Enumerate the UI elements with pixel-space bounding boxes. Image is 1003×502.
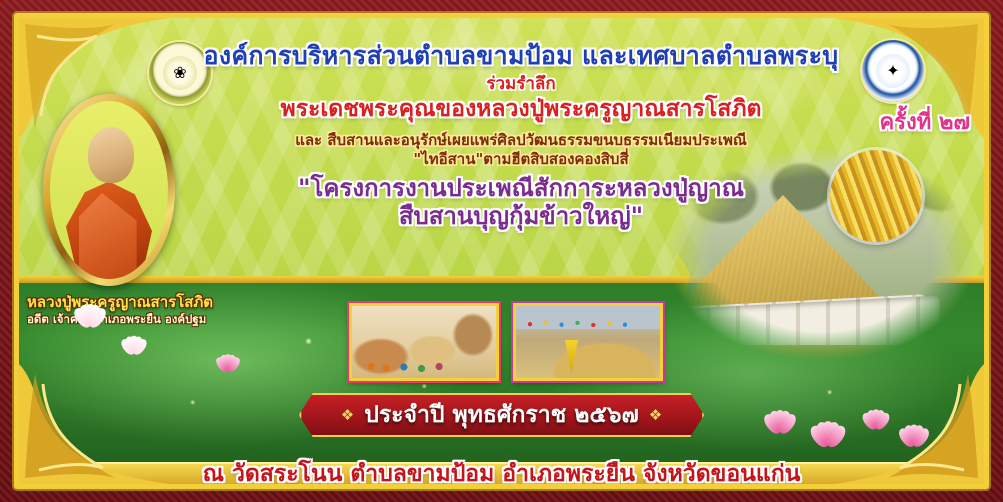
festival-scene — [516, 306, 660, 378]
ribbon-ornament-left-icon: ❖ — [341, 406, 354, 424]
purpose-line-2: "ไทอีสาน"ตามฮีตสิบสองคองสิบสี่ — [191, 151, 851, 168]
mural-photo-inner — [352, 306, 496, 378]
portrait-caption-role: อดีต เจ้าคณะอำเภอพระยืน องค์ปฐม — [27, 313, 195, 326]
mural-scene — [352, 306, 496, 378]
ribbon-ornament-right-icon: ❖ — [649, 406, 662, 424]
venue-line: ณ วัดสระโนน ตำบลขามป้อม อำเภอพระยืน จังห… — [19, 456, 984, 489]
headline-block: องค์การบริหารส่วนตำบลขามป้อม และเทศบาลตำ… — [191, 42, 851, 230]
sao-seal-glyph: ❀ — [173, 65, 186, 81]
edition-badge: ครั้งที่ ๒๗ — [880, 104, 970, 139]
year-ribbon: ❖ ประจำปี พุทธศักราช ๒๕๖๗ ❖ — [299, 393, 704, 437]
honoree-line: พระเดชพระคุณของหลวงปู่พระครูญาณสารโสภิต — [191, 97, 851, 123]
organizer-line: องค์การบริหารส่วนตำบลขามป้อม และเทศบาลตำ… — [191, 42, 851, 70]
rice-scene-ground — [650, 345, 980, 371]
municipality-seal-glyph: ✦ — [886, 63, 899, 79]
banner-inner-frame: หลวงปู่พระครูญาณสารโสภิต อดีต เจ้าคณะอำเ… — [14, 13, 989, 489]
lotus-flower-pink-right-2 — [807, 417, 849, 446]
commemoration-label: ร่วมรำลึก — [191, 75, 851, 94]
festival-photo-inner — [516, 306, 660, 378]
lotus-flower-pink-right-1 — [761, 406, 799, 432]
lotus-flower-white-left — [71, 300, 109, 326]
mural-photo — [349, 303, 499, 381]
portrait-gold-oval-frame — [43, 94, 175, 286]
purpose-line-1: และ สืบสานและอนุรักษ์เผยแพร่ศิลปวัฒนธรรม… — [191, 132, 851, 149]
phrabu-municipality-seal-icon: ✦ — [862, 40, 924, 102]
lotus-flower-pink-right-4 — [896, 421, 932, 446]
portrait-caption-name: หลวงปู่พระครูญาณสารโสภิต — [27, 294, 195, 311]
monk-head — [88, 127, 134, 183]
year-ribbon-text: ประจำปี พุทธศักราช ๒๕๖๗ — [364, 397, 639, 433]
project-title-line-2: สืบสานบุญกุ้มข้าวใหญ่" — [191, 203, 851, 230]
lotus-flower-pink-left — [214, 351, 243, 371]
lotus-flower-white-left-2 — [119, 333, 149, 354]
festival-banner: หลวงปู่พระครูญาณสารโสภิต อดีต เจ้าคณะอำเ… — [0, 0, 1003, 502]
festival-photo — [513, 303, 663, 381]
monk-portrait-card: หลวงปู่พระครูญาณสารโสภิต อดีต เจ้าคณะอำเ… — [37, 80, 182, 350]
project-title-line-1: "โครงการงานประเพณีสักการะหลวงปู่ญาณ — [191, 175, 851, 202]
portrait-image — [50, 101, 168, 279]
lotus-flower-pink-right-3 — [860, 406, 892, 428]
portrait-caption: หลวงปู่พระครูญาณสารโสภิต อดีต เจ้าคณะอำเ… — [27, 294, 195, 326]
